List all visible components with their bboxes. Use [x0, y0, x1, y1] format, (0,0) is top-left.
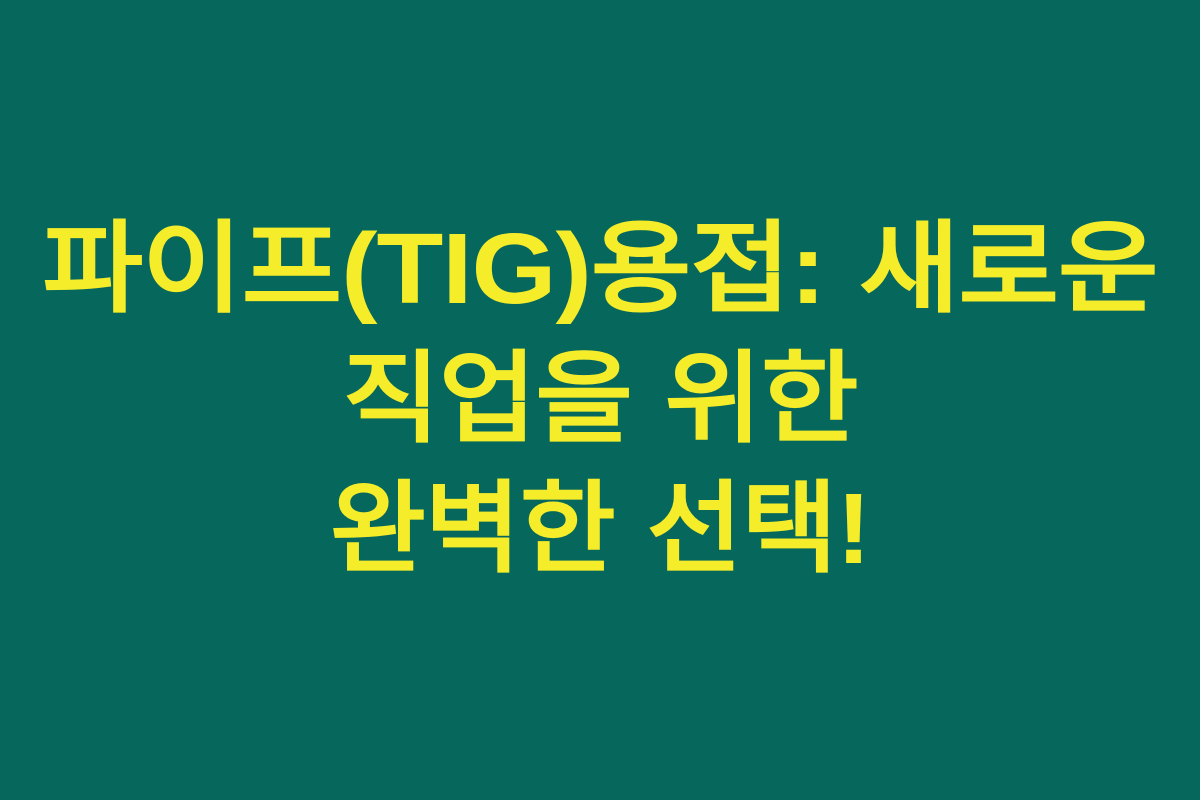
headline-line-3: 완벽한 선택!	[0, 464, 1200, 594]
poster-canvas: 파이프(TIG)용접: 새로운 직업을 위한 완벽한 선택!	[0, 0, 1200, 800]
headline-line-1: 파이프(TIG)용접: 새로운	[0, 204, 1200, 334]
headline: 파이프(TIG)용접: 새로운 직업을 위한 완벽한 선택!	[10, 204, 1190, 594]
headline-line-2: 직업을 위한	[0, 334, 1200, 464]
